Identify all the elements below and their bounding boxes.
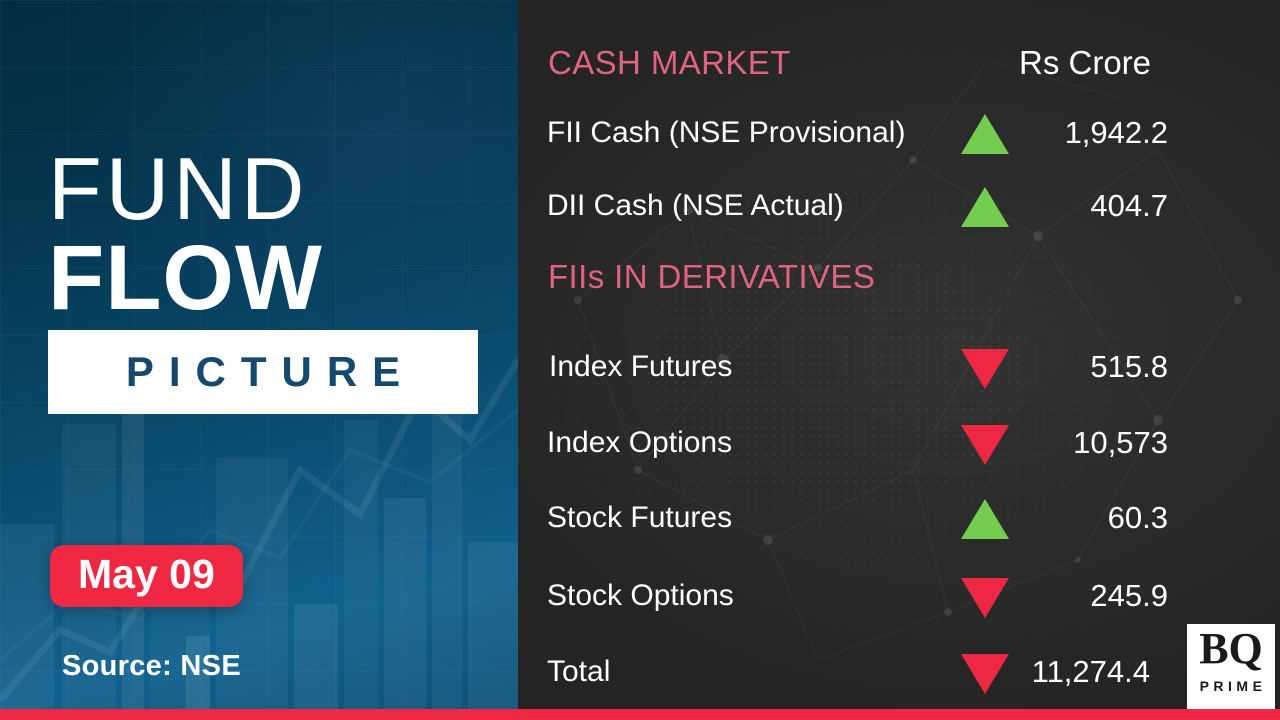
date-badge-label: May 09 [78, 551, 215, 597]
row-value: 404.7 [908, 188, 1168, 224]
source-label: Source: NSE [62, 650, 241, 683]
logo-word-flow: FLOW [48, 235, 484, 322]
row-value: 515.8 [908, 349, 1168, 385]
date-badge: May 09 [50, 545, 243, 607]
row-label: Stock Futures [547, 501, 732, 535]
table-row: Stock Futures 60.3 [518, 496, 1280, 540]
branding-panel: FUND FLOW PICTURE May 09 Source: NSE [0, 0, 518, 720]
row-label: Stock Options [547, 579, 734, 613]
section-heading-fiis-in-derivatives: FIIs IN DERIVATIVES [548, 258, 875, 296]
row-label: DII Cash (NSE Actual) [547, 189, 844, 223]
table-row: DII Cash (NSE Actual) 404.7 [518, 184, 1280, 228]
bq-logo-subtitle: PRIME [1187, 678, 1275, 694]
row-value: 60.3 [908, 500, 1168, 536]
bottom-accent-bar [0, 709, 1280, 720]
logo-picture-box: PICTURE [48, 330, 478, 414]
row-value: 245.9 [908, 578, 1168, 614]
row-value: 1,942.2 [908, 115, 1168, 151]
row-label: Index Options [547, 426, 732, 460]
table-row: Stock Options 245.9 [518, 574, 1280, 618]
infographic-canvas: FUND FLOW PICTURE May 09 Source: NSE [0, 0, 1280, 720]
fund-flow-logo: FUND FLOW PICTURE [48, 148, 484, 414]
bq-logo-mark: BQ [1187, 626, 1275, 672]
row-value: 11,274.4 [890, 654, 1150, 690]
logo-word-fund: FUND [48, 148, 484, 231]
table-row: Total 11,274.4 [518, 650, 1280, 694]
table-row: Index Options 10,573 [518, 421, 1280, 465]
table-row: Index Futures 515.8 [518, 345, 1280, 389]
unit-header: Rs Crore [1019, 44, 1151, 82]
row-label: Index Futures [549, 350, 732, 384]
logo-word-picture: PICTURE [111, 348, 415, 396]
row-label: Total [547, 655, 610, 689]
section-heading-cash-market: CASH MARKET [548, 44, 791, 82]
row-label: FII Cash (NSE Provisional) [547, 116, 905, 150]
bq-prime-logo: BQ PRIME [1187, 624, 1275, 710]
data-panel: CASH MARKET Rs Crore FII Cash (NSE Provi… [518, 0, 1280, 720]
table-row: FII Cash (NSE Provisional) 1,942.2 [518, 111, 1280, 155]
row-value: 10,573 [908, 425, 1168, 461]
